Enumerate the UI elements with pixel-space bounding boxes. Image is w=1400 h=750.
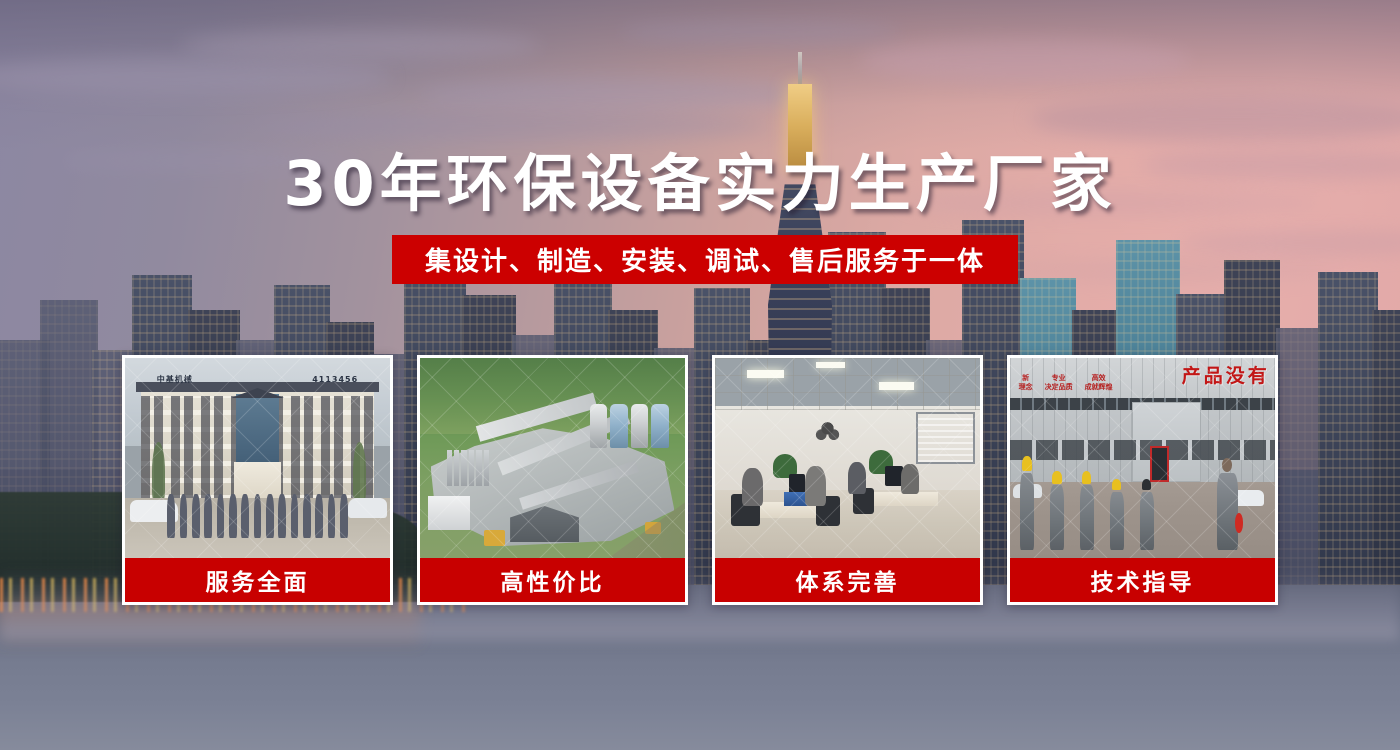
card-caption-bar: 体系完善 bbox=[715, 558, 980, 602]
building-sign: 中基机械 4113456 bbox=[157, 372, 358, 386]
wall-decal bbox=[810, 418, 844, 444]
office-workspace-photo bbox=[715, 358, 980, 558]
card-caption-label: 服务全面 bbox=[206, 563, 310, 597]
staff-lineup bbox=[167, 494, 347, 538]
tower-spire bbox=[798, 52, 802, 88]
company-headquarters-photo: 中基机械 4113456 bbox=[125, 358, 390, 558]
instructor-figure bbox=[1217, 458, 1238, 550]
banner-subtitle: 集设计、制造、安装、调试、售后服务于一体 bbox=[425, 241, 985, 278]
feature-card[interactable]: 体系完善 bbox=[712, 355, 983, 605]
building-sign-company: 中基机械 bbox=[157, 374, 193, 385]
worker-lineup bbox=[1018, 454, 1156, 550]
feature-card[interactable]: 产品没有 新理念专业决定品质高效成就辉煌 bbox=[1007, 355, 1278, 605]
card-caption-label: 体系完善 bbox=[796, 563, 900, 597]
feature-card[interactable]: 中基机械 4113456 服务全面 bbox=[122, 355, 393, 605]
subtitle-red-bar: 集设计、制造、安装、调试、售后服务于一体 bbox=[392, 235, 1018, 284]
factory-wall-slogan-small: 新理念专业决定品质高效成就辉煌 bbox=[1013, 374, 1119, 398]
feature-card-row: 中基机械 4113456 服务全面 bbox=[122, 355, 1278, 605]
factory-wall-slogan: 产品没有 bbox=[1153, 362, 1270, 386]
card-caption-bar: 服务全面 bbox=[125, 558, 390, 602]
hero-banner: 30年环保设备实力生产厂家 集设计、制造、安装、调试、售后服务于一体 中基机械 … bbox=[0, 0, 1400, 750]
banner-headline: 30年环保设备实力生产厂家 bbox=[0, 133, 1400, 223]
production-plant-aerial-photo bbox=[420, 358, 685, 558]
card-caption-bar: 高性价比 bbox=[420, 558, 685, 602]
building-sign-phone: 4113456 bbox=[312, 375, 358, 384]
feature-card[interactable]: 高性价比 bbox=[417, 355, 688, 605]
office-window bbox=[916, 412, 974, 464]
card-caption-label: 高性价比 bbox=[501, 563, 605, 597]
workers-training-photo: 产品没有 新理念专业决定品质高效成就辉煌 bbox=[1010, 358, 1275, 558]
card-caption-label: 技术指导 bbox=[1091, 563, 1195, 597]
card-caption-bar: 技术指导 bbox=[1010, 558, 1275, 602]
